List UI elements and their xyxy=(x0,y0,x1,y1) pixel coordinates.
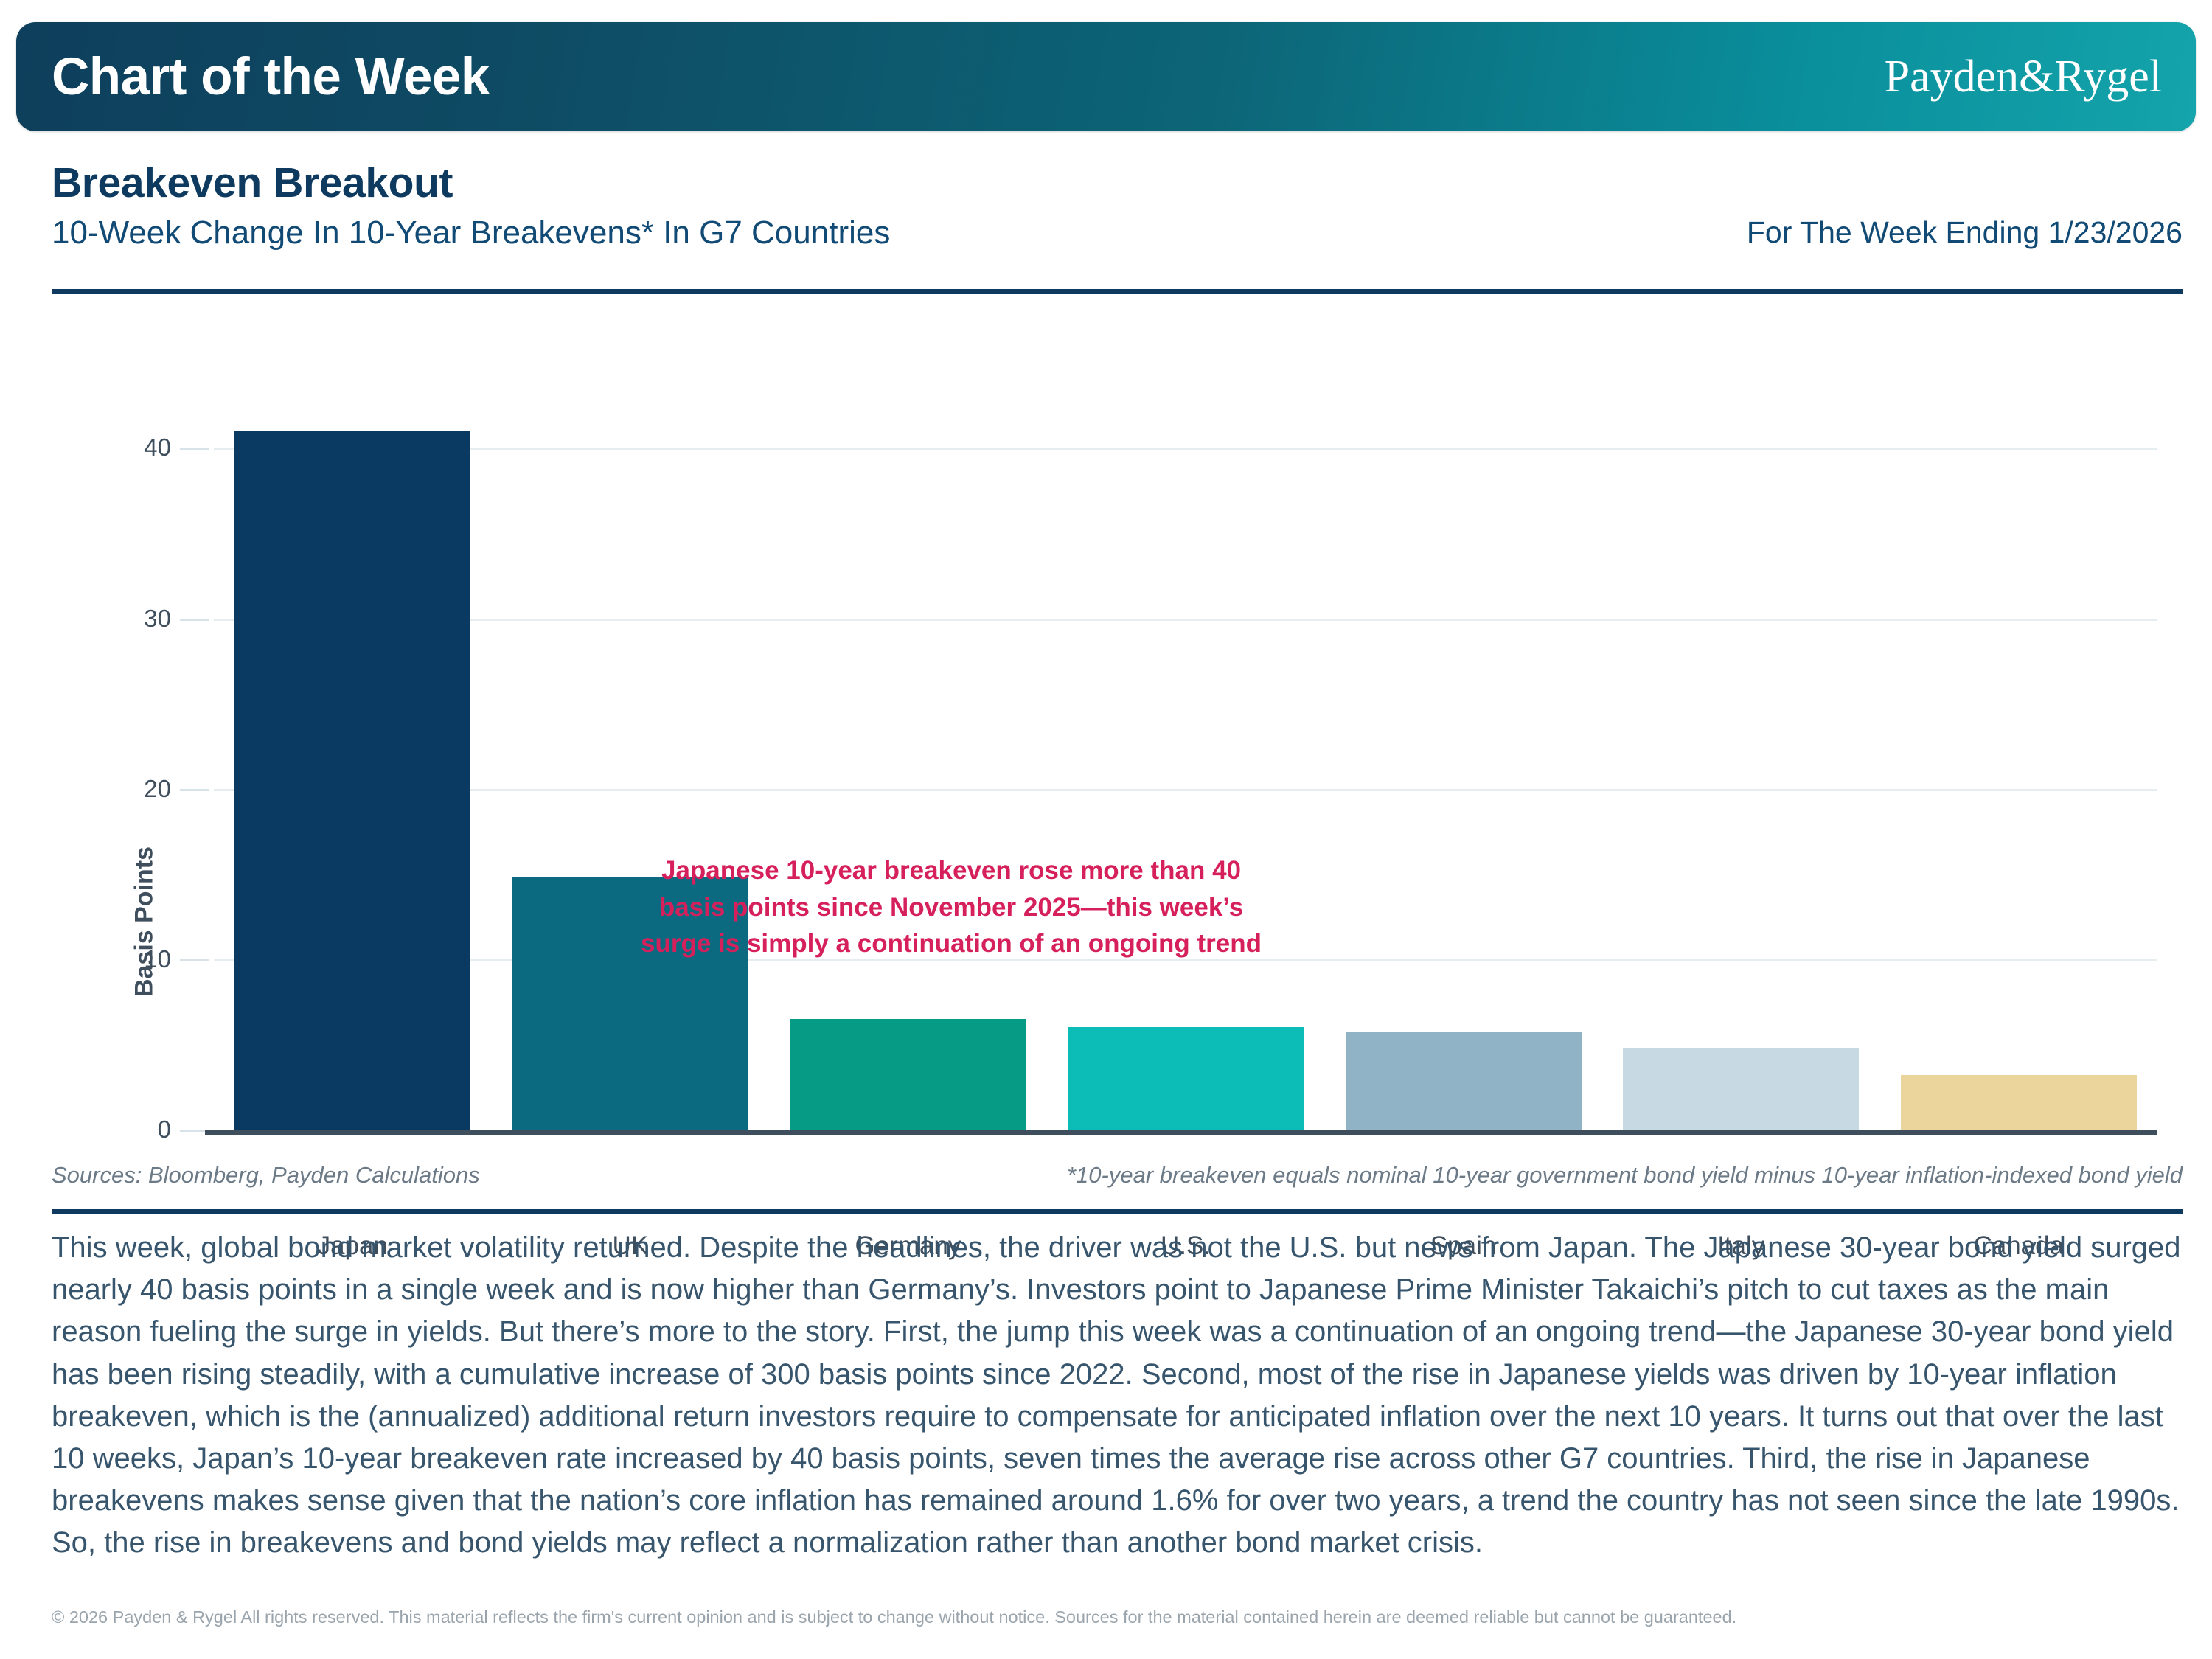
y-axis-tick-label: 10 xyxy=(144,945,171,973)
y-axis-tick-label: 20 xyxy=(144,775,171,803)
bar-canada[interactable] xyxy=(1901,1075,2137,1130)
y-axis-tick-label: 0 xyxy=(158,1116,171,1144)
y-axis-tick-label: 40 xyxy=(144,434,171,462)
bar-slot[interactable] xyxy=(1879,397,2157,1130)
title-block: Breakeven Breakout 10-Week Change In 10-… xyxy=(52,161,2183,251)
bar-slot[interactable] xyxy=(214,397,492,1130)
week-ending-label: For The Week Ending 1/23/2026 xyxy=(1747,216,2183,251)
y-axis-tick xyxy=(180,959,209,961)
sources-label: Sources: Bloomberg, Payden Calculations xyxy=(52,1162,480,1189)
bar-slot[interactable] xyxy=(1602,397,1880,1130)
body-divider xyxy=(52,1209,2183,1214)
y-axis-tick xyxy=(180,619,209,621)
x-axis-line xyxy=(205,1130,2157,1135)
y-axis-tick-label: 30 xyxy=(144,605,171,633)
bar-series xyxy=(214,397,2157,1130)
bar-italy[interactable] xyxy=(1623,1048,1859,1130)
chart-of-the-week-page: Chart of the Week Payden&Rygel Breakeven… xyxy=(0,0,2212,1659)
body-paragraph: This week, global bond market volatility… xyxy=(52,1227,2191,1565)
page-title: Breakeven Breakout xyxy=(52,161,2183,206)
bar-spain[interactable] xyxy=(1346,1032,1582,1130)
payden-rygel-logo: Payden&Rygel xyxy=(1885,54,2162,100)
bar-germany[interactable] xyxy=(790,1019,1026,1130)
banner-title: Chart of the Week xyxy=(52,51,490,103)
copyright-footer: © 2026 Payden & Rygel All rights reserve… xyxy=(52,1606,2183,1629)
header-banner: Chart of the Week Payden&Rygel xyxy=(16,22,2196,131)
chart-annotation: Japanese 10-year breakeven rose more tha… xyxy=(612,852,1290,962)
y-axis-tick xyxy=(180,448,209,450)
y-axis-title: Basis Points xyxy=(131,846,159,997)
bar-slot[interactable] xyxy=(1324,397,1602,1130)
plot-area: 010203040 JapanUKGermanyU.S.SpainItalyCa… xyxy=(214,397,2157,1135)
page-subtitle: 10-Week Change In 10-Year Breakevens* In… xyxy=(52,215,890,251)
footnote-label: *10-year breakeven equals nominal 10-yea… xyxy=(1067,1162,2183,1189)
title-divider xyxy=(52,289,2183,294)
bar-slot[interactable] xyxy=(1047,397,1325,1130)
bar-slot[interactable] xyxy=(492,397,770,1130)
bar-japan[interactable] xyxy=(234,431,470,1130)
bar-chart: Basis Points 010203040 JapanUKGermanyU.S… xyxy=(52,317,2183,1172)
bar-slot[interactable] xyxy=(769,397,1047,1130)
subtitle-row: 10-Week Change In 10-Year Breakevens* In… xyxy=(52,215,2183,251)
y-axis-tick xyxy=(180,789,209,791)
bar-us[interactable] xyxy=(1068,1027,1304,1130)
source-row: Sources: Bloomberg, Payden Calculations … xyxy=(52,1162,2183,1189)
